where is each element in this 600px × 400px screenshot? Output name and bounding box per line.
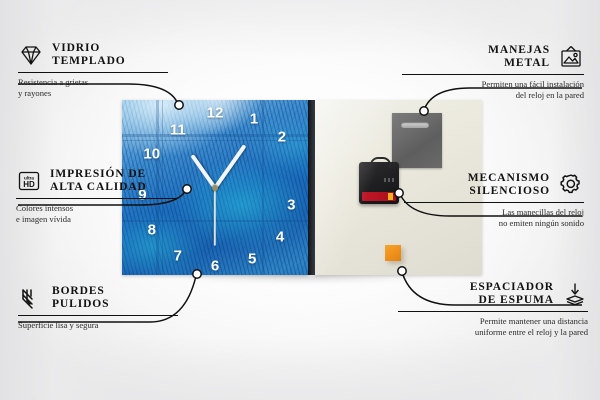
callout-rule	[402, 74, 584, 75]
callout-rule	[404, 202, 584, 203]
foam-spacer-icon	[562, 281, 588, 307]
callout-desc-line1: Permite mantener una distancia	[398, 316, 588, 327]
callout-desc-line2: y rayones	[18, 88, 168, 99]
callout-desc-line1: Las manecillas del reloj	[404, 207, 584, 218]
callout-bordes-pulidos: BORDES PULIDOS Superficie lisa y segura	[18, 285, 178, 331]
callout-title: MECANISMO SILENCIOSO	[468, 172, 550, 198]
wall-hanger-icon	[558, 44, 584, 70]
callout-manejas-metal: MANEJAS METAL Permiten una fácil instala…	[402, 44, 584, 100]
callout-desc-line2: e imagen vívida	[16, 214, 176, 225]
polished-edges-icon	[18, 285, 44, 311]
anchor-dot-vidrio-templado	[175, 101, 183, 109]
callout-desc-line2: no emiten ningún sonido	[404, 218, 584, 229]
callout-rule	[18, 72, 168, 73]
callout-rule	[398, 311, 588, 312]
callout-rule	[16, 198, 176, 199]
callout-desc-line1: Resistencia a grietas	[18, 77, 168, 88]
callout-header: ultra HD IMPRESIÓN DE ALTA CALIDAD	[16, 168, 176, 194]
callout-header: MANEJAS METAL	[402, 44, 584, 70]
callout-impresion-alta-calidad: ultra HD IMPRESIÓN DE ALTA CALIDAD Color…	[16, 168, 176, 224]
ultra-hd-icon: ultra HD	[16, 168, 42, 194]
anchor-dot-bordes	[193, 270, 201, 278]
anchor-dot-mecanismo	[395, 189, 403, 197]
callout-vidrio-templado: VIDRIO TEMPLADO Resistencia a grietas y …	[18, 42, 168, 98]
diamond-icon	[18, 42, 44, 68]
callout-title: BORDES PULIDOS	[52, 285, 109, 311]
callout-espaciador-espuma: ESPACIADOR DE ESPUMA Permite mantener un…	[398, 281, 588, 337]
callout-header: VIDRIO TEMPLADO	[18, 42, 168, 68]
anchor-dot-espaciador	[398, 267, 406, 275]
anchor-dot-manejas	[420, 107, 428, 115]
callout-title: VIDRIO TEMPLADO	[52, 42, 126, 68]
callout-desc-line2: del reloj en la pared	[402, 90, 584, 101]
callout-mecanismo-silencioso: MECANISMO SILENCIOSO Las manecillas del …	[404, 172, 584, 228]
callout-desc-line1: Superficie lisa y segura	[18, 320, 178, 331]
callout-header: ESPACIADOR DE ESPUMA	[398, 281, 588, 307]
callout-rule	[18, 315, 178, 316]
callout-header: MECANISMO SILENCIOSO	[404, 172, 584, 198]
callout-title: IMPRESIÓN DE ALTA CALIDAD	[50, 168, 147, 194]
callout-desc-line1: Permiten una fácil instalación	[402, 79, 584, 90]
callout-title: MANEJAS METAL	[488, 44, 550, 70]
callout-desc-line2: uniforme entre el reloj y la pared	[398, 327, 588, 338]
infographic-canvas: 12 1 2 3 4 5 6 7 8 9 10 11	[0, 0, 600, 400]
gear-icon	[558, 172, 584, 198]
callout-header: BORDES PULIDOS	[18, 285, 178, 311]
callout-desc-line1: Colores intensos	[16, 203, 176, 214]
svg-text:HD: HD	[23, 180, 35, 189]
callout-title: ESPACIADOR DE ESPUMA	[470, 281, 554, 307]
anchor-dot-impresion	[183, 185, 191, 193]
